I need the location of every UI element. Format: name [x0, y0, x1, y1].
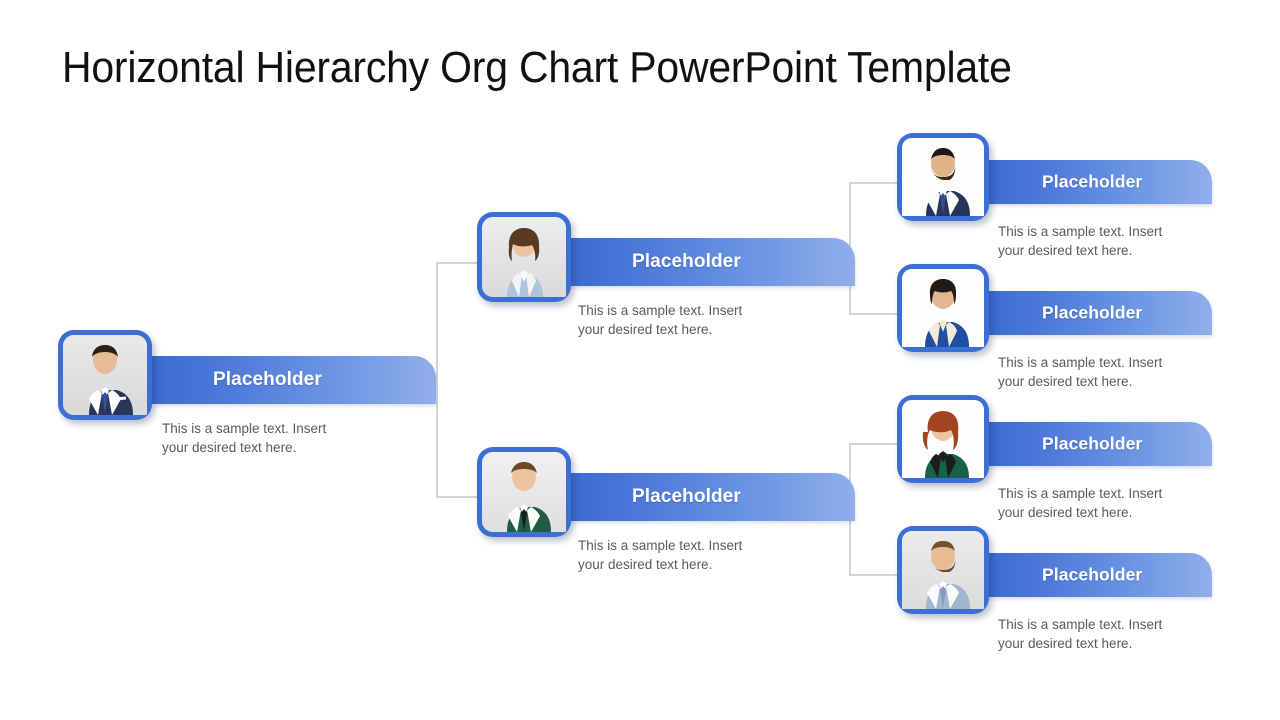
portrait-woman-red-hair-green-blazer-photo — [902, 400, 984, 478]
portrait-man-beard-navy-suit-photo — [902, 138, 984, 216]
node-photo-inner — [902, 531, 984, 609]
node-photo-frame[interactable] — [58, 330, 152, 420]
node-photo-frame[interactable] — [897, 526, 989, 614]
node-title-bar[interactable]: Placeholder — [985, 291, 1212, 335]
node-caption: This is a sample text. Insert your desir… — [998, 485, 1208, 522]
node-photo-frame[interactable] — [897, 264, 989, 352]
node-title-bar[interactable]: Placeholder — [567, 473, 855, 521]
node-photo-inner — [902, 269, 984, 347]
node-title-bar[interactable]: Placeholder — [148, 356, 436, 404]
node-photo-inner — [902, 400, 984, 478]
portrait-woman-light-blue-blazer-photo — [482, 217, 566, 297]
node-label: Placeholder — [1042, 434, 1142, 455]
node-title-bar[interactable]: Placeholder — [985, 160, 1212, 204]
node-label: Placeholder — [1042, 172, 1142, 193]
node-caption: This is a sample text. Insert your desir… — [578, 302, 788, 339]
node-photo-frame[interactable] — [897, 395, 989, 483]
node-caption: This is a sample text. Insert your desir… — [998, 616, 1208, 653]
node-title-bar[interactable]: Placeholder — [567, 238, 855, 286]
node-caption: This is a sample text. Insert your desir… — [162, 420, 372, 457]
portrait-woman-navy-blazer-photo — [902, 269, 984, 347]
node-photo-inner — [902, 138, 984, 216]
node-label: Placeholder — [632, 486, 741, 508]
node-label: Placeholder — [632, 251, 741, 273]
node-photo-frame[interactable] — [477, 212, 571, 302]
connector-to-leaf-1 — [849, 182, 897, 184]
connector-to-leaf-2 — [849, 313, 897, 315]
node-photo-inner — [482, 452, 566, 532]
page-title: Horizontal Hierarchy Org Chart PowerPoin… — [62, 40, 1012, 96]
slide-canvas: Horizontal Hierarchy Org Chart PowerPoin… — [0, 0, 1280, 720]
node-photo-frame[interactable] — [477, 447, 571, 537]
connector-to-leaf-4 — [849, 574, 897, 576]
node-label: Placeholder — [1042, 303, 1142, 324]
node-caption: This is a sample text. Insert your desir… — [998, 354, 1208, 391]
connector-to-leaf-3 — [849, 443, 897, 445]
portrait-man-green-suit-photo — [482, 452, 566, 532]
connector-root-vertical — [436, 263, 438, 497]
node-photo-frame[interactable] — [897, 133, 989, 221]
node-label: Placeholder — [213, 369, 322, 391]
node-photo-inner — [63, 335, 147, 415]
node-caption: This is a sample text. Insert your desir… — [998, 223, 1208, 260]
node-title-bar[interactable]: Placeholder — [985, 422, 1212, 466]
portrait-man-light-grey-suit-photo — [902, 531, 984, 609]
node-title-bar[interactable]: Placeholder — [985, 553, 1212, 597]
node-photo-inner — [482, 217, 566, 297]
portrait-man-navy-suit-photo — [63, 335, 147, 415]
node-caption: This is a sample text. Insert your desir… — [578, 537, 788, 574]
node-label: Placeholder — [1042, 565, 1142, 586]
